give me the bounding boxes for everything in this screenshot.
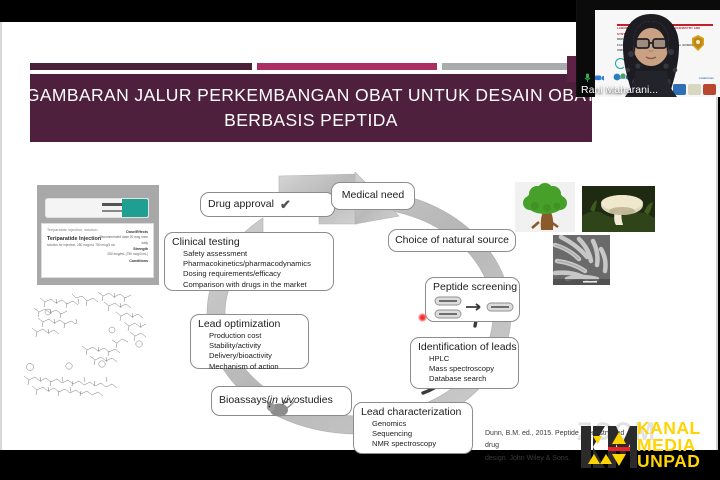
box-lead-optimization[interactable]: Lead optimization Production cost Stabil…: [190, 314, 309, 369]
box-clinical-testing-title: Clinical testing: [172, 236, 326, 249]
box-clinical-testing-item: Comparison with drugs in the market: [183, 280, 326, 290]
box-bioassays-title-a: Bioassays/: [219, 394, 270, 407]
box-identification-of-leads[interactable]: Identification of leads HPLC Mass spectr…: [410, 337, 519, 389]
slide-title-line-1: GAMBARAN JALUR PERKEMBANGAN OBAT UNTUK D…: [26, 84, 596, 107]
mouse-icon: [266, 397, 296, 419]
slide-title-line-2: BERBASIS PEPTIDA: [224, 109, 398, 132]
box-bioassays[interactable]: Bioassays/in vivo studies: [211, 386, 352, 416]
kanal-media-logo-icon: [575, 422, 637, 472]
box-identification-of-leads-item: HPLC: [429, 354, 511, 364]
slide-accent-bars: [30, 63, 592, 70]
box-drug-approval[interactable]: Drug approval ✔: [200, 192, 335, 217]
bacteria-micrograph: [553, 235, 610, 285]
box-lead-characterization-item: NMR spectroscopy: [372, 439, 465, 449]
box-choice-of-natural-source[interactable]: Choice of natural source: [388, 229, 516, 252]
mushroom-photo: [582, 186, 655, 232]
university-crest-icon: [690, 34, 706, 52]
box-clinical-testing-item: Safety assessment: [183, 249, 326, 259]
drug-label-heading-3: Conditions: [96, 258, 148, 264]
participant-video-tile[interactable]: LABORATORY OF NATURAL PRODUCT CHEMISTRY …: [576, 0, 720, 97]
kanal-media-unpad-watermark: ZOOM KANAL MEDIA: [571, 419, 720, 475]
box-clinical-testing[interactable]: Clinical testing Safety assessment Pharm…: [164, 232, 334, 291]
checkmark-icon: ✔: [280, 197, 291, 213]
box-medical-need-title: Medical need: [342, 189, 404, 202]
box-peptide-screening[interactable]: Peptide screening: [425, 277, 520, 322]
watermark-text: KANAL MEDIA UNPAD: [637, 420, 701, 470]
peptide-screening-icon: [433, 296, 515, 322]
accent-bar-pink: [257, 63, 437, 70]
box-lead-characterization-title: Lead characterization: [361, 406, 465, 419]
box-drug-approval-title: Drug approval: [208, 198, 274, 211]
box-lead-characterization-item: Sequencing: [372, 429, 465, 439]
pen-label-mark: [102, 203, 124, 206]
box-clinical-testing-item: Pharmacokinetics/pharmacodynamics: [183, 259, 326, 269]
box-identification-of-leads-item: Mass spectroscopy: [429, 364, 511, 374]
box-medical-need[interactable]: Medical need: [331, 182, 415, 210]
box-lead-optimization-item: Mechanism of action: [209, 362, 301, 372]
microphone-icon: [582, 72, 593, 83]
box-lead-optimization-title: Lead optimization: [198, 318, 301, 331]
box-peptide-screening-title: Peptide screening: [433, 281, 512, 294]
pen-label-mark-2: [102, 210, 132, 212]
box-clinical-testing-item: Dosing requirements/efficacy: [183, 269, 326, 279]
drug-label-card: Teriparatide injection, solution Teripar…: [41, 223, 154, 278]
drug-product-image: Teriparatide injection, solution Teripar…: [37, 185, 159, 285]
injection-pen-graphic: [45, 198, 149, 218]
box-lead-optimization-item: Production cost: [209, 331, 301, 341]
collaborator-label-right: Collaborator: [699, 76, 714, 80]
video-camera-icon: [594, 72, 605, 83]
participant-status-icons: [582, 72, 605, 83]
box-bioassays-title-c: studies: [300, 394, 333, 407]
box-identification-of-leads-title: Identification of leads: [418, 341, 511, 354]
box-lead-optimization-item: Stability/activity: [209, 341, 301, 351]
box-lead-characterization[interactable]: Lead characterization Genomics Sequencin…: [353, 402, 473, 454]
watermark-line-3: UNPAD: [637, 453, 701, 470]
box-identification-of-leads-item: Database search: [429, 374, 511, 384]
laser-pointer-dot: [418, 313, 427, 322]
box-lead-optimization-item: Delivery/bioactivity: [209, 351, 301, 361]
participant-name-label: Rani Maharani...: [581, 84, 658, 96]
accent-bar-dark: [30, 63, 252, 70]
drug-label-right-column: Dose/Effects Recommended dose 20 mcg onc…: [96, 229, 148, 264]
slide-title-block: GAMBARAN JALUR PERKEMBANGAN OBAT UNTUK D…: [30, 74, 592, 142]
zoom-shared-screen-view: GAMBARAN JALUR PERKEMBANGAN OBAT UNTUK D…: [0, 0, 720, 480]
box-choice-of-natural-source-title: Choice of natural source: [395, 234, 509, 247]
peptide-structure-diagram: [12, 284, 162, 404]
box-lead-characterization-item: Genomics: [372, 419, 465, 429]
drug-label-value-1: Recommended dose 20 mcg once daily: [96, 235, 148, 246]
